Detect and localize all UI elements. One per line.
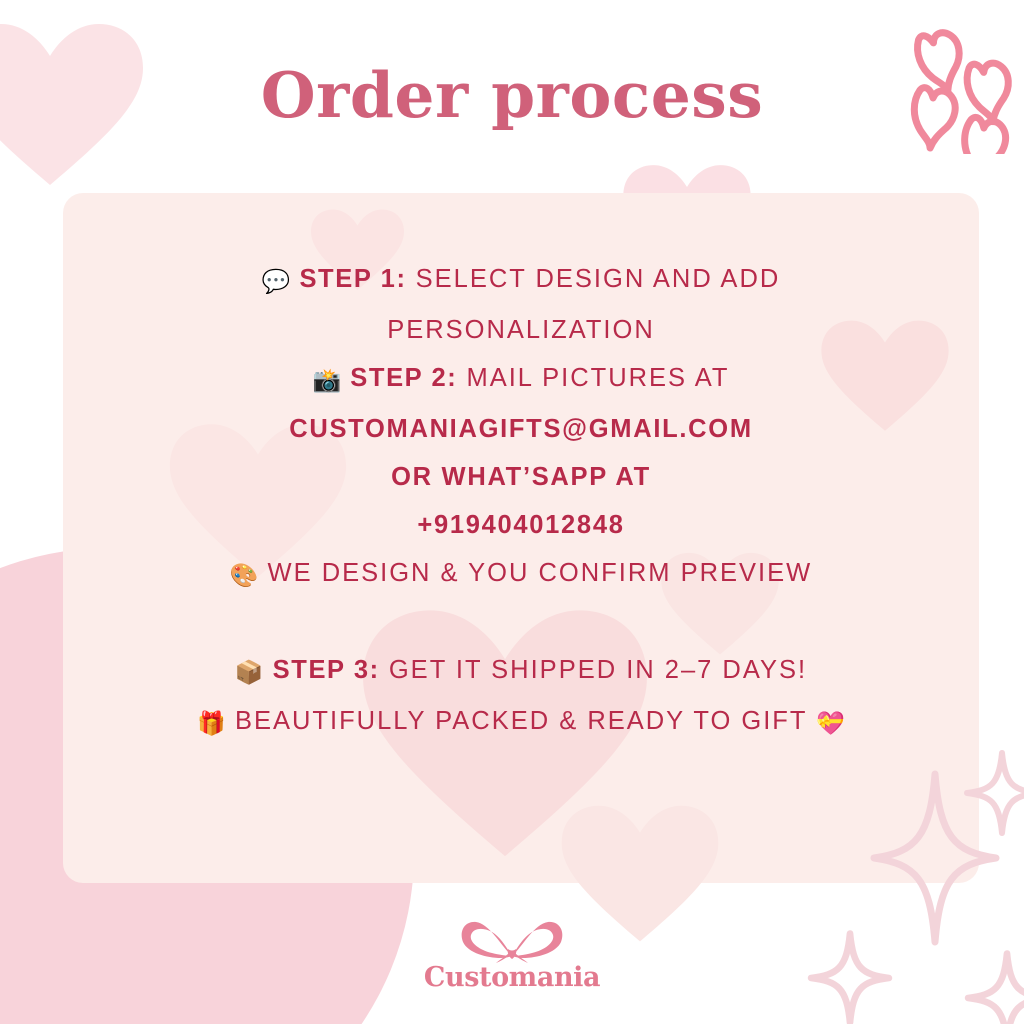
design-preview-text: WE DESIGN & YOU CONFIRM PREVIEW (268, 559, 813, 587)
step-1-text: SELECT DESIGN AND ADD (407, 265, 781, 293)
design-preview-line: 🎨 WE DESIGN & YOU CONFIRM PREVIEW (230, 549, 812, 600)
camera-with-flash-icon: 📸 (313, 368, 342, 394)
step-3-separator: : (370, 656, 380, 684)
packing-text: BEAUTIFULLY PACKED & READY TO GIFT (235, 707, 807, 735)
packing-line: 🎁 BEAUTIFULLY PACKED & READY TO GIFT 💝 (197, 697, 844, 748)
step-3-line: 📦 STEP 3: GET IT SHIPPED IN 2–7 DAYS! (235, 646, 807, 697)
heart-with-ribbon-icon: 💝 (816, 711, 845, 737)
brand-wordmark: Customania (0, 962, 1024, 993)
step-3-label: STEP 3 (273, 656, 370, 684)
contact-email[interactable]: CUSTOMANIAGIFTS@GMAIL.COM (289, 405, 753, 453)
step-1-label: STEP 1 (299, 265, 396, 293)
ribbon-bow-icon (457, 916, 567, 964)
step-2-label: STEP 2 (350, 364, 447, 392)
poster-canvas: Order process 💬 STEP 1: SELECT DESIGN AN… (0, 0, 1024, 1024)
contact-phone[interactable]: +919404012848 (417, 501, 624, 549)
speech-balloon-icon: 💬 (262, 269, 291, 295)
brand-logo: Customania (0, 916, 1024, 993)
step-2-text: MAIL PICTURES AT (457, 364, 729, 392)
step-1-line: 💬 STEP 1: SELECT DESIGN AND ADD (262, 255, 781, 306)
page-title: Order process (0, 58, 1024, 132)
artist-palette-icon: 🎨 (230, 563, 259, 589)
step-3-text: GET IT SHIPPED IN 2–7 DAYS! (380, 656, 807, 684)
step-1-continuation: PERSONALIZATION (387, 306, 655, 354)
contact-alt-channel: OR WHAT’SAPP AT (391, 453, 651, 501)
wrapped-gift-icon: 🎁 (197, 711, 226, 737)
step-2-separator: : (447, 364, 457, 392)
steps-list: 💬 STEP 1: SELECT DESIGN AND ADD PERSONAL… (63, 193, 979, 883)
step-1-separator: : (396, 265, 406, 293)
step-2-line: 📸 STEP 2: MAIL PICTURES AT (313, 354, 730, 405)
package-icon: 📦 (235, 660, 264, 686)
